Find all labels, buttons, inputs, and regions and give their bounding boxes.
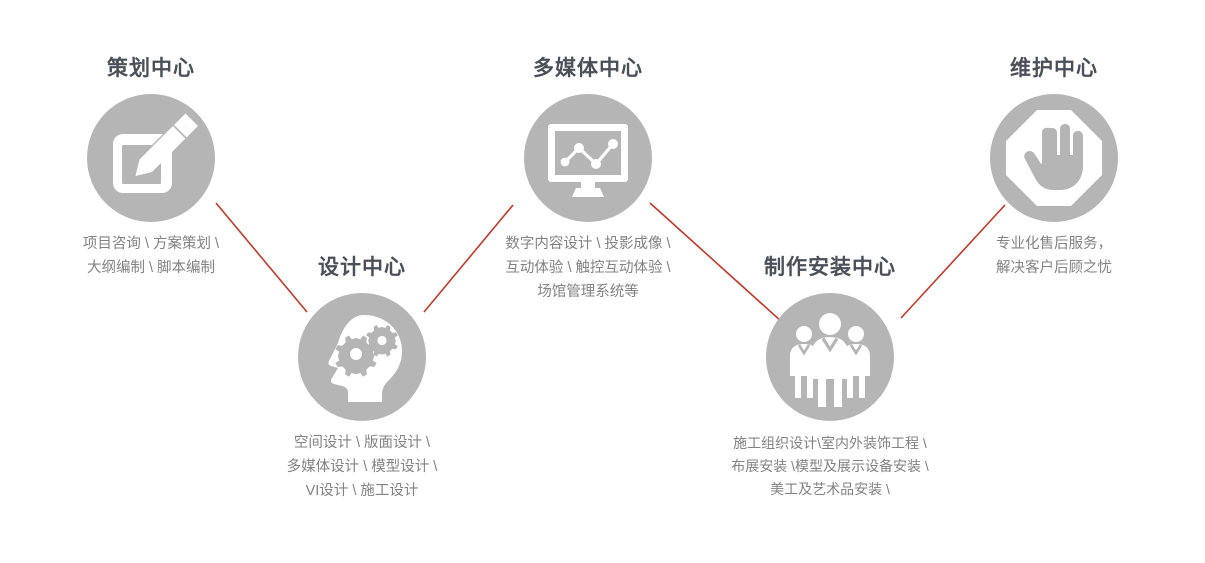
- diagram-canvas: 策划中心 项目咨询 \ 方案策划 \ 大纲编制 \ 脚本编制 设计中心: [0, 0, 1205, 563]
- octagon-hand-icon: [990, 94, 1118, 222]
- node-planning-title: 策划中心: [1, 56, 301, 81]
- node-production[interactable]: 制作安装中心: [680, 255, 980, 501]
- pencil-edit-icon: [87, 94, 215, 222]
- node-multimedia-badge: [524, 94, 652, 222]
- node-maintenance[interactable]: 维护中心 专业化售后服务， 解决客户后顾之忧: [904, 56, 1204, 281]
- node-production-caption: 施工组织设计\室内外装饰工程 \ 布展安装 \模型及展示设备安装 \ 美工及艺术…: [680, 432, 980, 501]
- node-design-caption: 空间设计 \ 版面设计 \ 多媒体设计 \ 模型设计 \ VI设计 \ 施工设计: [212, 432, 512, 504]
- monitor-chart-icon: [524, 94, 652, 222]
- three-people-icon: [766, 293, 894, 421]
- node-maintenance-caption: 专业化售后服务， 解决客户后顾之忧: [904, 233, 1204, 281]
- node-planning-badge: [87, 94, 215, 222]
- node-maintenance-title: 维护中心: [904, 56, 1204, 81]
- node-planning[interactable]: 策划中心 项目咨询 \ 方案策划 \ 大纲编制 \ 脚本编制: [1, 56, 301, 281]
- node-design-badge: [298, 293, 426, 421]
- node-multimedia-title: 多媒体中心: [438, 56, 738, 81]
- node-maintenance-badge: [990, 94, 1118, 222]
- node-production-badge: [766, 293, 894, 421]
- head-gears-icon: [298, 293, 426, 421]
